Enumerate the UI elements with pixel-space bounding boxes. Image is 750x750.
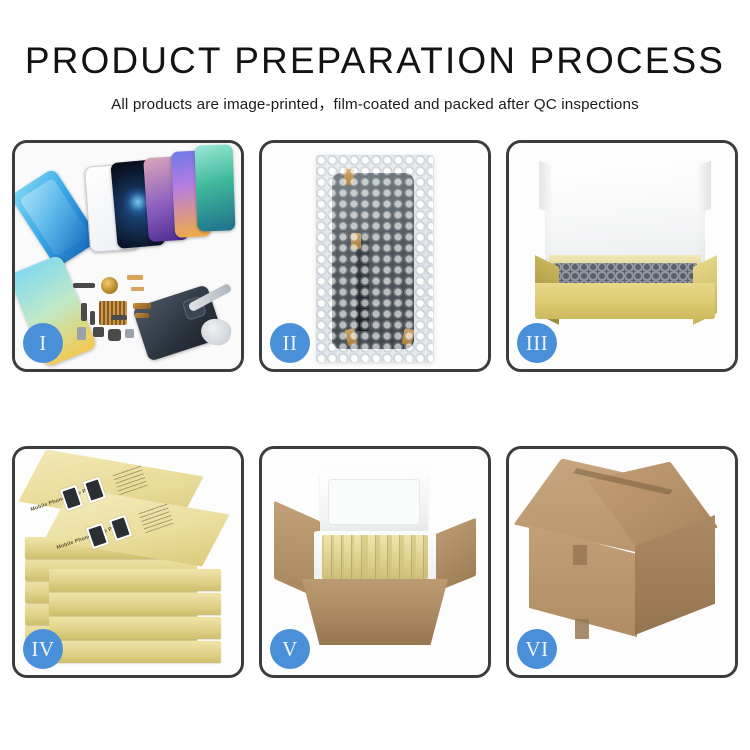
stacked-box — [49, 593, 221, 615]
process-step-1: I — [12, 140, 244, 372]
process-step-grid: I II — [12, 140, 738, 678]
step-badge-4: IV — [23, 629, 63, 669]
small-part — [81, 303, 87, 321]
carton-tape-patch — [575, 619, 589, 639]
lcd-screen-assembly — [332, 173, 414, 349]
step-badge-6: VI — [517, 629, 557, 669]
teal-gradient-phone — [195, 144, 236, 231]
stacked-box — [49, 617, 221, 639]
yellow-boxes-inside — [322, 535, 428, 579]
page-subtitle: All products are image-printed，film-coat… — [0, 92, 750, 114]
screen-flex-cable — [356, 235, 369, 331]
camera-module-part — [108, 329, 121, 341]
product-preparation-infographic: PRODUCT PREPARATION PROCESS All products… — [0, 0, 750, 750]
sim-tray-part — [77, 327, 86, 340]
carton-tape-patch — [573, 545, 587, 565]
small-part — [111, 315, 127, 320]
carton-body — [302, 579, 448, 645]
process-step-2: II — [259, 140, 491, 372]
process-step-4: Mobile Phone Spare Parts Mobile Phone Sp… — [12, 446, 244, 678]
step-badge-3: III — [517, 323, 557, 363]
small-part — [90, 311, 95, 325]
stacked-box — [49, 569, 221, 591]
flex-cable-part — [127, 275, 143, 280]
small-part — [73, 283, 95, 288]
speaker-part-icon — [101, 277, 118, 294]
adhesive-tab — [344, 169, 354, 185]
lid-left-flap — [539, 161, 551, 214]
small-part — [125, 329, 134, 338]
foam-lid — [320, 471, 428, 535]
yellow-box-front — [535, 283, 715, 319]
adhesive-tab — [351, 233, 361, 249]
page-title: PRODUCT PREPARATION PROCESS — [0, 42, 750, 81]
process-step-6: VI — [506, 446, 738, 678]
process-step-3: III — [506, 140, 738, 372]
step-badge-2: II — [270, 323, 310, 363]
connector-matrix-part — [99, 301, 127, 325]
small-part — [93, 327, 104, 337]
header: PRODUCT PREPARATION PROCESS All products… — [0, 0, 750, 114]
copper-part — [133, 303, 151, 309]
copper-part — [135, 313, 149, 318]
flex-cable-part — [131, 287, 144, 291]
step-badge-5: V — [270, 629, 310, 669]
process-step-5: V — [259, 446, 491, 678]
step-badge-1: I — [23, 323, 63, 363]
stacked-box — [49, 641, 221, 663]
lid-right-flap — [699, 161, 711, 214]
